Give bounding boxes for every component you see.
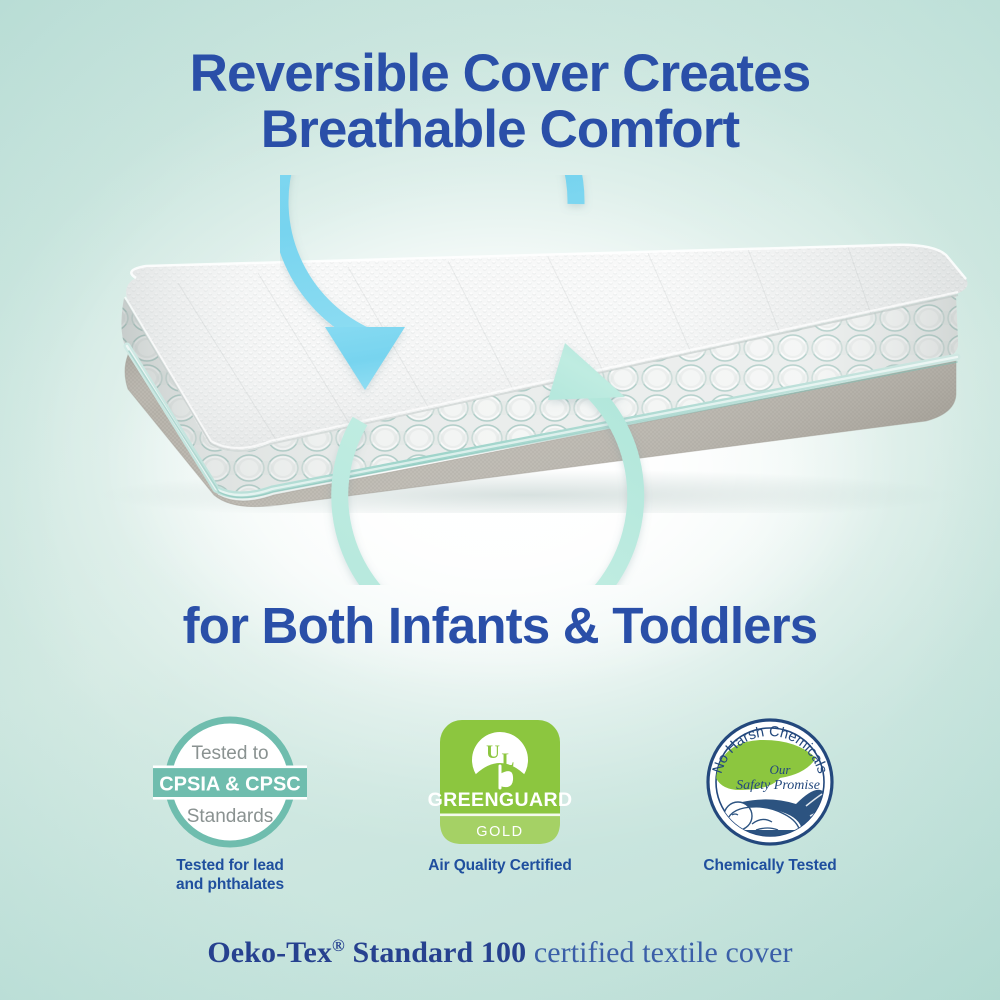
greenguard-level: GOLD (476, 824, 524, 840)
badge-no-harsh-chemicals: No Harsh Chemicals Our Safety Promise Ch… (620, 712, 920, 875)
oeko-tex-suffix: certified textile cover (526, 936, 792, 969)
cpsia-line1: Tested to (191, 743, 268, 764)
oeko-tex-standard: Standard 100 (345, 936, 526, 969)
subheadline: for Both Infants & Toddlers (0, 598, 1000, 654)
safety-promise-line1: Our (770, 762, 792, 777)
cpsia-badge-icon: Tested to CPSIA & CPSC Standards (80, 712, 380, 852)
badge-greenguard-gold: U L GREENGUARD GOLD Air Quality Certifie… (350, 712, 650, 875)
product-infographic: Reversible Cover Creates Breathable Comf… (0, 0, 1000, 1000)
badge-cpsia-cpsc: Tested to CPSIA & CPSC Standards Tested … (80, 712, 380, 894)
cpsia-badge-art: Tested to CPSIA & CPSC Standards (80, 712, 380, 852)
svg-text:L: L (502, 750, 515, 771)
oeko-tex-footer: Oeko-Tex® Standard 100 certified textile… (0, 936, 1000, 970)
svg-text:U: U (486, 742, 500, 763)
badge-caption-no-harsh-chemicals: Chemically Tested (620, 856, 920, 875)
badge-caption-cpsia: Tested for lead and phthalates (80, 856, 380, 894)
registered-mark: ® (332, 936, 345, 955)
arrow-bottom-up (340, 343, 636, 585)
safety-promise-line2: Safety Promise (736, 778, 820, 793)
cpsia-line2: CPSIA & CPSC (159, 774, 301, 796)
no-harsh-chemicals-badge-icon: No Harsh Chemicals Our Safety Promise (620, 712, 920, 852)
circular-arrow-pair (280, 175, 730, 585)
reversible-arrows (280, 175, 730, 585)
certification-badges: Tested to CPSIA & CPSC Standards Tested … (0, 712, 1000, 897)
no-harsh-chemicals-badge-art: No Harsh Chemicals Our Safety Promise (620, 712, 920, 852)
greenguard-badge-icon: U L GREENGUARD GOLD (350, 712, 650, 852)
arrow-top-down (280, 175, 576, 390)
cpsia-line3: Standards (187, 806, 274, 827)
headline: Reversible Cover Creates Breathable Comf… (0, 46, 1000, 158)
greenguard-badge-art: U L GREENGUARD GOLD (350, 712, 650, 852)
oeko-tex-name: Oeko-Tex (207, 936, 332, 969)
greenguard-title: GREENGUARD (428, 789, 573, 811)
badge-caption-greenguard: Air Quality Certified (350, 856, 650, 875)
